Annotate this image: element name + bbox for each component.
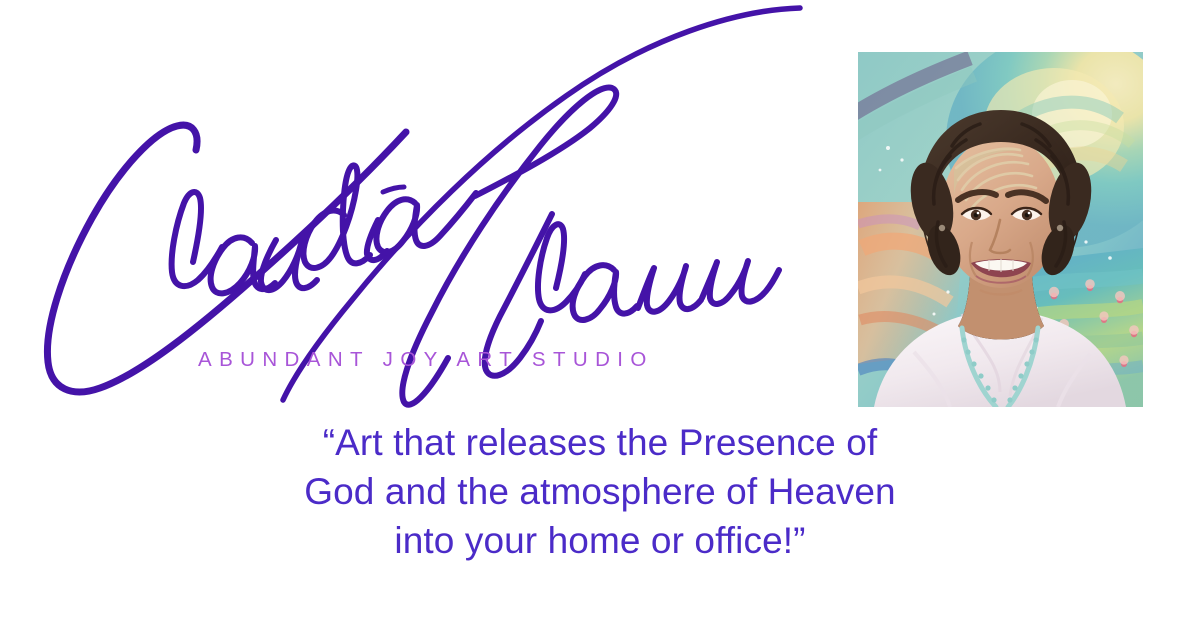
brand-logo: ABUNDANT JOY ART STUDIO (0, 0, 830, 410)
portrait-image (858, 52, 1143, 407)
earring-left (939, 225, 945, 231)
quote-line-1: “Art that releases the Presence of (0, 418, 1200, 467)
signature-letter-i-dot (383, 187, 404, 192)
quote-line-2: God and the atmosphere of Heaven (0, 467, 1200, 516)
artist-portrait-photo (858, 52, 1143, 407)
earring-right (1057, 225, 1063, 231)
signature-letter-a2 (376, 193, 476, 252)
signature-letter-n2 (702, 261, 779, 304)
brand-tagline: ABUNDANT JOY ART STUDIO (198, 350, 638, 371)
promo-banner: ABUNDANT JOY ART STUDIO “Art that releas… (0, 0, 1200, 628)
signature-flourish-stroke (283, 8, 800, 400)
tagline-quote: “Art that releases the Presence of God a… (0, 418, 1200, 565)
signature-letter-n1 (638, 266, 701, 312)
signature-letter-d (303, 165, 370, 268)
signature-letter-l2 (538, 224, 585, 310)
quote-line-3: into your home or office!” (0, 516, 1200, 565)
